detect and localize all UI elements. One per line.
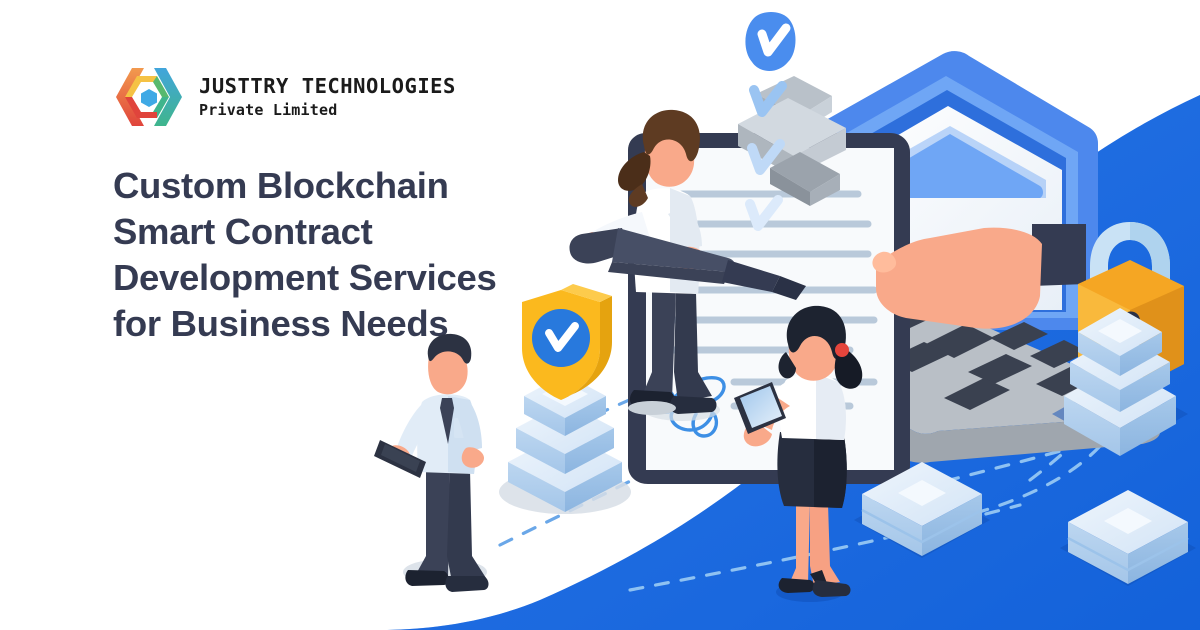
shield-check-badge — [522, 284, 612, 400]
man-with-tablet — [374, 334, 489, 592]
hero-illustration — [330, 0, 1200, 630]
justtry-hexagon-logo-icon — [113, 63, 185, 131]
banner-canvas: JUSTTRY TECHNOLOGIES Private Limited Cus… — [0, 0, 1200, 630]
checkmark-1 — [745, 12, 795, 71]
blockchain-block-right-bottom — [1060, 490, 1196, 586]
